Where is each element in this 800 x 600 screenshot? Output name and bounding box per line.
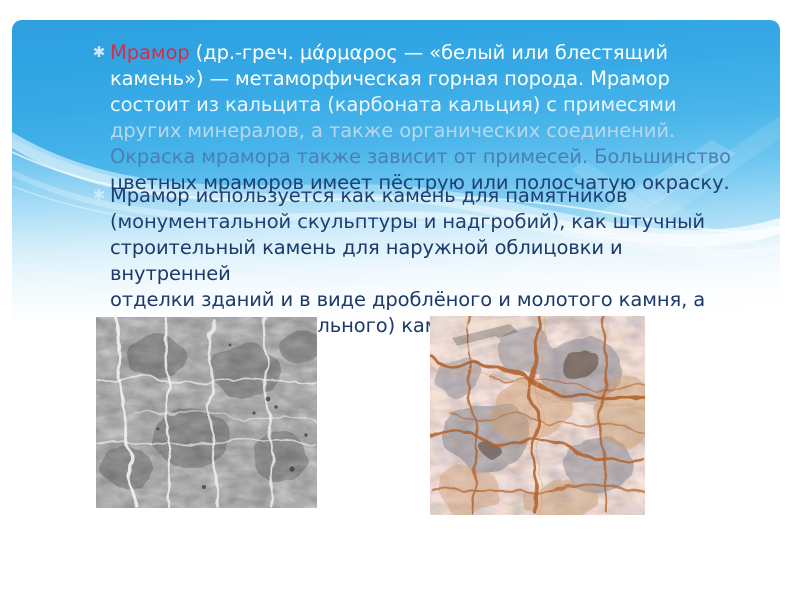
asterisk-bullet-icon: ✱ xyxy=(88,40,110,66)
bullet-2-line-3: строительный камень для наружной облицов… xyxy=(110,236,623,285)
brown-marble-texture xyxy=(430,316,645,515)
bullet-1-line-5: Окраска мрамора также зависит от примесе… xyxy=(110,145,731,168)
bullet-1-line-2: камень») — метаморфическая горная порода… xyxy=(110,67,670,90)
gray-marble-texture xyxy=(96,317,317,508)
presentation-slide: ✱ Мрамор (др.-греч. μάρμαρος — «белый ил… xyxy=(0,0,800,600)
bullet-1-line-1: (др.-греч. μάρμαρος — «белый или блестящ… xyxy=(190,41,668,64)
gray-marble-photo xyxy=(96,317,317,508)
bullet-1-line-4: других минералов, а также органических с… xyxy=(110,119,675,142)
bullet-item-1-text: Мрамор (др.-греч. μάρμαρος — «белый или … xyxy=(110,40,748,196)
bullet-2-line-2: (монументальной скульптуры и надгробий),… xyxy=(110,210,705,233)
bullet-2-line-4: отделки зданий и в виде дроблёного и мол… xyxy=(110,288,705,311)
bullet-item-1: ✱ Мрамор (др.-греч. μάρμαρος — «белый ил… xyxy=(88,40,748,196)
brown-marble-photo xyxy=(430,316,645,515)
asterisk-bullet-icon: ✱ xyxy=(88,183,110,209)
bullet-item-2-text: Мрамор используется как камень для памят… xyxy=(110,183,748,339)
slide-text-content: ✱ Мрамор (др.-греч. μάρμαρος — «белый ил… xyxy=(0,0,800,600)
bullet-2-line-1: Мрамор используется как камень для памят… xyxy=(110,184,627,207)
term-marble-highlight: Мрамор xyxy=(110,41,190,64)
bullet-1-line-3: состоит из кальцита (карбоната кальция) … xyxy=(110,93,676,116)
bullet-item-2: ✱ Мрамор используется как камень для пам… xyxy=(88,183,748,339)
